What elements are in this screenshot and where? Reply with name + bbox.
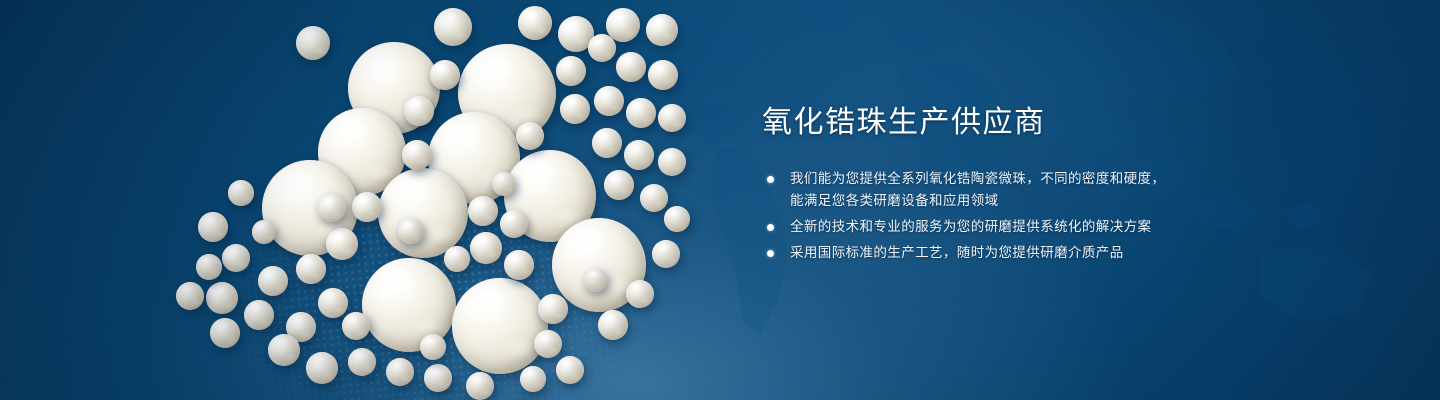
bullet-dot-icon (767, 176, 774, 183)
bullet-line: 采用国际标准的生产工艺，随时为您提供研磨介质产品 (790, 242, 1282, 264)
bullet-dot-icon (767, 250, 774, 257)
bullet-line: 全新的技术和专业的服务为您的研磨提供系统化的解决方案 (790, 216, 1282, 238)
list-item: 采用国际标准的生产工艺，随时为您提供研磨介质产品 (762, 242, 1282, 264)
banner-title: 氧化锆珠生产供应商 (762, 104, 1282, 142)
bullet-line: 我们能为您提供全系列氧化锆陶瓷微珠，不同的密度和硬度， (790, 168, 1282, 190)
list-item: 我们能为您提供全系列氧化锆陶瓷微珠，不同的密度和硬度， 能满足您各类研磨设备和应… (762, 168, 1282, 212)
feature-list: 我们能为您提供全系列氧化锆陶瓷微珠，不同的密度和硬度， 能满足您各类研磨设备和应… (762, 168, 1282, 264)
bullet-dot-icon (767, 224, 774, 231)
hero-banner: 氧化锆珠生产供应商 我们能为您提供全系列氧化锆陶瓷微珠，不同的密度和硬度， 能满… (0, 0, 1440, 400)
list-item: 全新的技术和专业的服务为您的研磨提供系统化的解决方案 (762, 216, 1282, 238)
banner-content: 氧化锆珠生产供应商 我们能为您提供全系列氧化锆陶瓷微珠，不同的密度和硬度， 能满… (762, 104, 1282, 268)
bullet-line: 能满足您各类研磨设备和应用领域 (790, 190, 1282, 212)
